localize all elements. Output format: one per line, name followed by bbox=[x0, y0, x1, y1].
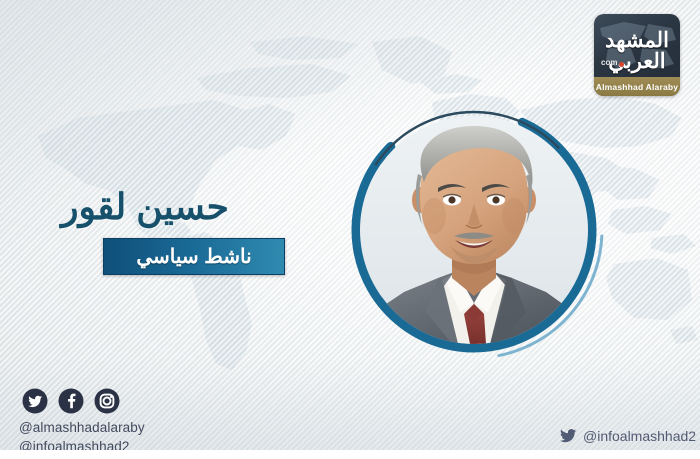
logo-dot-icon bbox=[619, 62, 624, 67]
bottom-bar bbox=[0, 450, 700, 459]
portrait-container bbox=[348, 104, 600, 356]
person-title-text: ناشط سياسي bbox=[136, 247, 251, 267]
person-name: حسين لقور bbox=[0, 186, 290, 228]
media-graphic-card: المشهد العربي com Almashhad Alaraby bbox=[0, 0, 700, 459]
watermark-handle: @infoalmashhad2 bbox=[583, 428, 696, 444]
twitter-icon[interactable] bbox=[22, 388, 48, 414]
twitter-watermark: @infoalmashhad2 bbox=[560, 428, 696, 444]
logo-arabic-line1: المشهد bbox=[594, 30, 680, 51]
logo-com-label: com bbox=[601, 58, 617, 67]
almashhad-alaraby-logo: المشهد العربي com Almashhad Alaraby bbox=[594, 14, 680, 96]
social-icons-row bbox=[22, 388, 120, 414]
portrait-illustration bbox=[360, 116, 588, 344]
instagram-icon[interactable] bbox=[94, 388, 120, 414]
twitter-icon bbox=[560, 429, 577, 443]
portrait-photo bbox=[360, 116, 588, 344]
logo-english-caption: Almashhad Alaraby bbox=[594, 77, 680, 96]
facebook-icon[interactable] bbox=[58, 388, 84, 414]
handle-primary[interactable]: @almashhadalaraby bbox=[19, 418, 145, 437]
person-title-badge: ناشط سياسي bbox=[103, 238, 285, 275]
